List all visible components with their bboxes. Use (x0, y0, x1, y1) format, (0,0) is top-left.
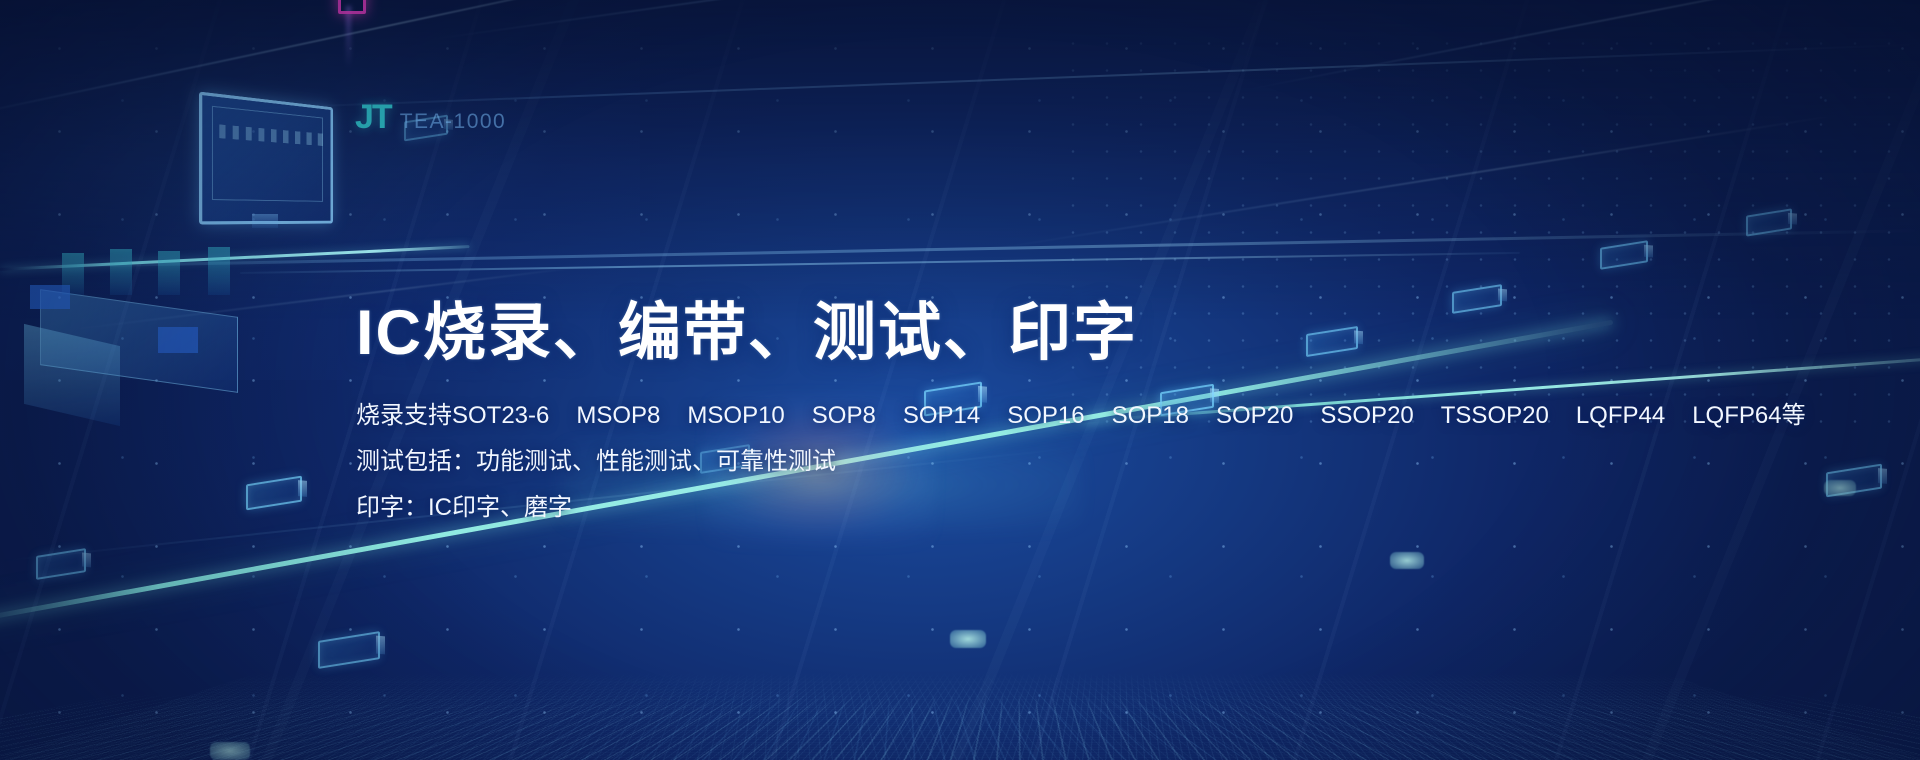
package-sop14: SOP14 (903, 404, 980, 428)
package-sop8: SOP8 (812, 404, 876, 428)
subtitle-line-burn-support: 烧录支持SOT23-6 MSOP8 MSOP10 SOP8 SOP14 SOP1… (356, 404, 1656, 428)
page-title: IC烧录、编带、测试、印字 (356, 300, 1656, 366)
banner-content: IC烧录、编带、测试、印字 烧录支持SOT23-6 MSOP8 MSOP10 S… (356, 300, 1656, 520)
subtitle-block: 烧录支持SOT23-6 MSOP8 MSOP10 SOP8 SOP14 SOP1… (356, 404, 1656, 520)
package-msop8: MSOP8 (576, 404, 660, 428)
package-msop10: MSOP10 (687, 404, 784, 428)
package-tssop20: TSSOP20 (1441, 404, 1549, 428)
subtitle-line-testing: 测试包括：功能测试、性能测试、可靠性测试 (356, 450, 1656, 474)
package-list: 烧录支持SOT23-6 MSOP8 MSOP10 SOP8 SOP14 SOP1… (356, 404, 1806, 428)
package-lqfp44: LQFP44 (1576, 404, 1665, 428)
package-ssop20: SSOP20 (1320, 404, 1413, 428)
package-sop20: SOP20 (1216, 404, 1293, 428)
subtitle-line-marking: 印字：IC印字、磨字 (356, 496, 1656, 520)
hero-banner: JT TEA-1000 IC烧录、编带、测试、印字 烧录支持SOT23-6 MS… (0, 0, 1920, 760)
burn-support-lead: 烧录支持SOT23-6 (356, 404, 549, 428)
package-lqfp64: LQFP64等 (1692, 404, 1805, 428)
package-sop16: SOP16 (1007, 404, 1084, 428)
package-sop18: SOP18 (1112, 404, 1189, 428)
